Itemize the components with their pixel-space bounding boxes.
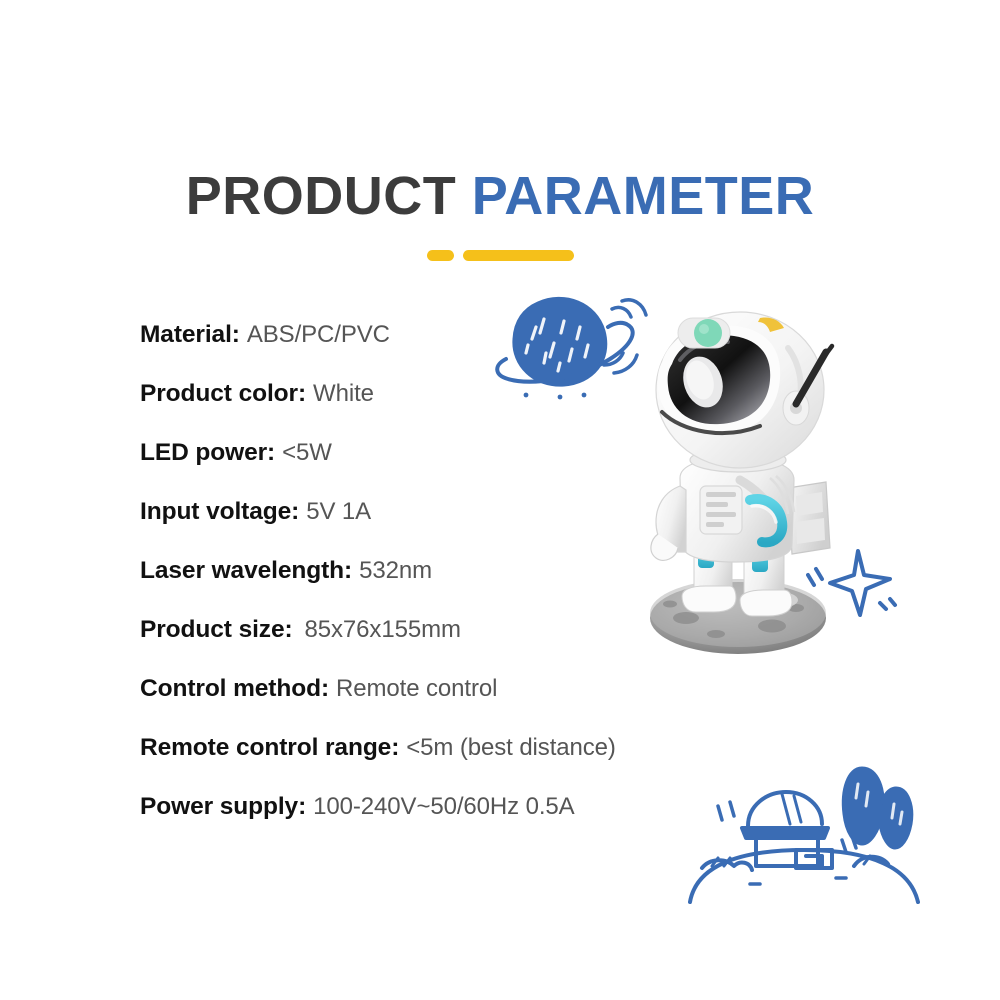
astronaut-backpack	[788, 482, 830, 554]
spec-value: 100-240V~50/60Hz 0.5A	[313, 793, 574, 821]
spec-value: 532nm	[359, 557, 432, 585]
spec-label: Power supply:	[140, 793, 306, 821]
page-title: PRODUCT PARAMETER	[0, 168, 1000, 225]
spec-value: 85x76x155mm	[305, 616, 461, 644]
astronaut-torso	[680, 458, 794, 562]
product-parameter-infographic: PRODUCT PARAMETER Material: ABS/PC/PVC P…	[0, 0, 1000, 1000]
spec-value: 5V 1A	[306, 498, 371, 526]
product-image-astronaut	[620, 300, 890, 660]
spec-label: Product color:	[140, 380, 306, 408]
spec-label: Remote control range:	[140, 734, 399, 762]
astronaut-helmet	[656, 312, 824, 468]
underline-dash-long	[463, 250, 574, 261]
spec-value: <5W	[282, 439, 332, 467]
spec-value: Remote control	[336, 675, 497, 703]
underline-dash-short	[427, 250, 454, 261]
title-underline	[0, 250, 1000, 261]
spec-row-power-supply: Power supply: 100-240V~50/60Hz 0.5A	[140, 777, 780, 836]
spec-label: Product size:	[140, 616, 293, 644]
title-word-product: PRODUCT	[186, 166, 457, 226]
spec-label: Laser wavelength:	[140, 557, 352, 585]
spec-value: ABS/PC/PVC	[247, 321, 390, 349]
spec-row-remote-control-range: Remote control range: <5m (best distance…	[140, 718, 780, 777]
spec-label: Material:	[140, 321, 240, 349]
spec-label: LED power:	[140, 439, 275, 467]
astronaut-arm	[651, 486, 686, 560]
spec-value: White	[313, 380, 374, 408]
moon-base	[650, 579, 826, 654]
title-word-parameter: PARAMETER	[472, 166, 815, 226]
spec-label: Control method:	[140, 675, 329, 703]
spec-value: <5m (best distance)	[406, 734, 616, 762]
observatory-icon	[686, 762, 926, 913]
spec-label: Input voltage:	[140, 498, 299, 526]
spec-row-control-method: Control method: Remote control	[140, 659, 780, 718]
